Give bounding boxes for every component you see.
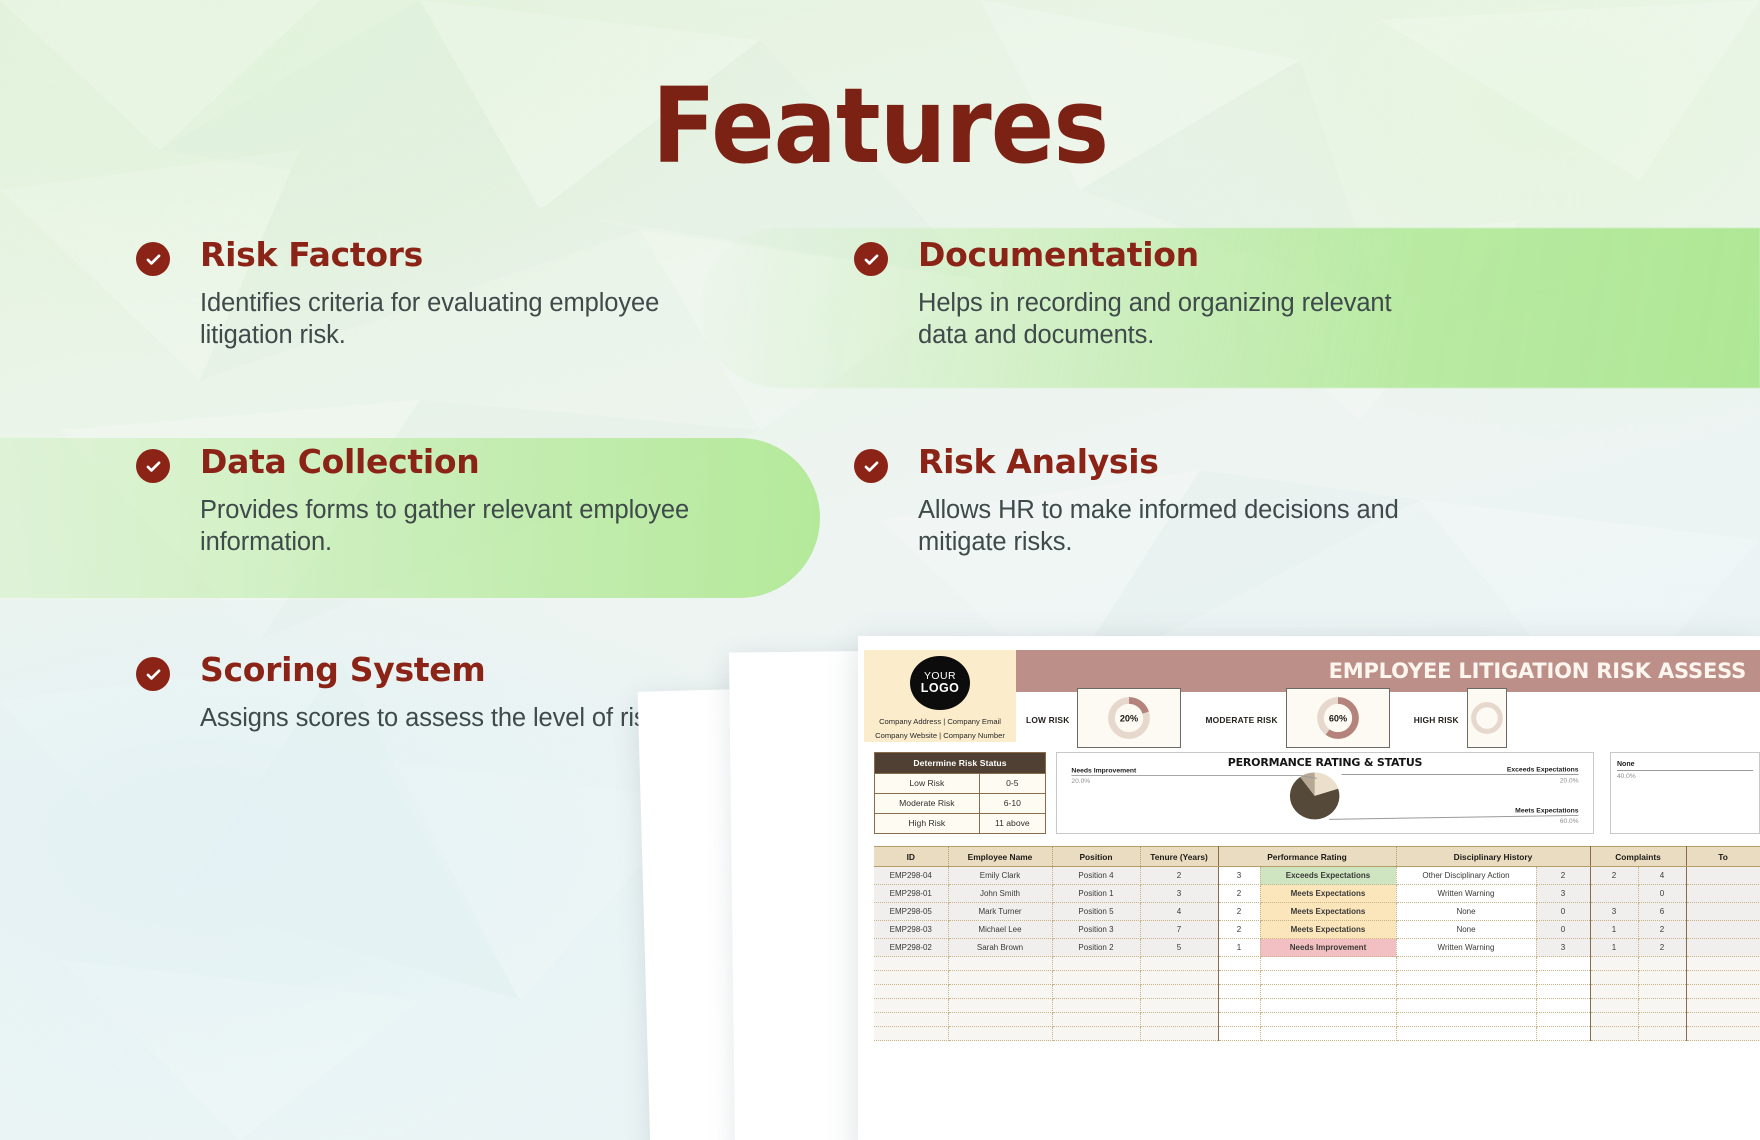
cell-score: 1 <box>1218 939 1260 957</box>
check-circle-icon <box>854 242 888 276</box>
cell-name: Emily Clark <box>948 867 1052 885</box>
cell-tenure: 2 <box>1140 867 1218 885</box>
none-panel: None 40.0% <box>1610 752 1760 834</box>
company-contact-line-2: Company Website | Company Number <box>875 729 1005 742</box>
feature-description: Provides forms to gather relevant employ… <box>200 494 720 558</box>
cell-id: EMP298-03 <box>874 921 948 939</box>
cell-complaint-2: 6 <box>1638 903 1686 921</box>
table-row-empty <box>874 999 1760 1013</box>
page-title: Features <box>88 74 1672 178</box>
risk-status-label: Moderate Risk <box>875 793 980 813</box>
feature-description: Allows HR to make informed decisions and… <box>918 494 1438 558</box>
none-panel-label: None <box>1617 761 1753 771</box>
cell-tenure: 4 <box>1140 903 1218 921</box>
cell-history-num: 2 <box>1536 867 1590 885</box>
cell-history: None <box>1396 903 1536 921</box>
cell-history: Written Warning <box>1396 939 1536 957</box>
cell-tenure: 7 <box>1140 921 1218 939</box>
feature-heading: Data Collection <box>200 445 800 480</box>
gauge-value-low: 20% <box>1120 713 1138 723</box>
table-row-empty <box>874 971 1760 985</box>
gauge-label-high: HIGH RISK <box>1414 715 1459 725</box>
risk-status-label: Low Risk <box>875 773 980 793</box>
cell-to <box>1686 921 1760 939</box>
logo-block: YOUR LOGO Company Address | Company Emai… <box>864 650 1016 742</box>
cell-history: Written Warning <box>1396 885 1536 903</box>
gauge-low-risk: 20% <box>1077 688 1181 748</box>
cell-position: Position 4 <box>1052 867 1140 885</box>
cell-id: EMP298-05 <box>874 903 948 921</box>
feature-cell-risk-factors: Risk Factors Identifies criteria for eva… <box>0 238 800 446</box>
cell-id: EMP298-04 <box>874 867 948 885</box>
cell-position: Position 2 <box>1052 939 1140 957</box>
cell-rating: Meets Expectations <box>1260 903 1396 921</box>
table-row-empty <box>874 1027 1760 1041</box>
cell-history: None <box>1396 921 1536 939</box>
determine-risk-status-table: Determine Risk Status Low Risk0-5 Modera… <box>874 752 1046 834</box>
table-row: EMP298-03 Michael Lee Position 3 7 2 Mee… <box>874 921 1760 939</box>
col-employee-name: Employee Name <box>948 847 1052 867</box>
cell-to <box>1686 939 1760 957</box>
pie-value-exceeds: 20.0% <box>1560 777 1579 784</box>
performance-pie-chart: PERORMANCE RATING & STATUS <box>1056 752 1594 834</box>
cell-complaint-2: 4 <box>1638 867 1686 885</box>
cell-complaint-2: 0 <box>1638 885 1686 903</box>
col-id: ID <box>874 847 948 867</box>
none-panel-value: 40.0% <box>1617 773 1753 780</box>
feature-heading: Documentation <box>918 238 1642 273</box>
col-disciplinary-history: Disciplinary History <box>1396 847 1590 867</box>
employee-risk-table: ID Employee Name Position Tenure (Years)… <box>874 846 1760 1041</box>
logo-line-2: LOGO <box>921 682 959 695</box>
cell-to <box>1686 903 1760 921</box>
gauge-high-risk <box>1467 688 1507 748</box>
cell-rating: Needs Improvement <box>1260 939 1396 957</box>
cell-name: Mark Turner <box>948 903 1052 921</box>
risk-status-range: 11 above <box>979 813 1045 833</box>
cell-position: Position 1 <box>1052 885 1140 903</box>
risk-status-title: Determine Risk Status <box>875 753 1046 774</box>
cell-complaint-1: 1 <box>1590 939 1638 957</box>
logo-mark: YOUR LOGO <box>910 656 970 710</box>
risk-status-range: 0-5 <box>979 773 1045 793</box>
risk-status-range: 6-10 <box>979 793 1045 813</box>
col-to: To <box>1686 847 1760 867</box>
cell-rating: Meets Expectations <box>1260 921 1396 939</box>
feature-heading: Risk Analysis <box>918 445 1642 480</box>
check-circle-icon <box>854 449 888 483</box>
pie-label-needs-improvement: Needs Improvement <box>1071 768 1137 775</box>
gauge-moderate-risk: 60% <box>1286 688 1390 748</box>
table-row: EMP298-04 Emily Clark Position 4 2 3 Exc… <box>874 867 1760 885</box>
cell-score: 2 <box>1218 903 1260 921</box>
cell-history-num: 0 <box>1536 903 1590 921</box>
company-contact-line-1: Company Address | Company Email <box>875 715 1005 728</box>
cell-history-num: 0 <box>1536 921 1590 939</box>
table-row-empty <box>874 985 1760 999</box>
cell-complaint-2: 2 <box>1638 939 1686 957</box>
cell-complaint-1: 3 <box>1590 903 1638 921</box>
document-header-title: EMPLOYEE LITIGATION RISK ASSESS <box>1329 659 1746 683</box>
cell-rating: Exceeds Expectations <box>1260 867 1396 885</box>
cell-complaint-2: 2 <box>1638 921 1686 939</box>
table-row-empty <box>874 1013 1760 1027</box>
pie-value-needs-improvement: 20.0% <box>1071 778 1090 785</box>
cell-history-num: 3 <box>1536 885 1590 903</box>
table-row: EMP298-01 John Smith Position 1 3 2 Meet… <box>874 885 1760 903</box>
table-row: EMP298-02 Sarah Brown Position 2 5 1 Nee… <box>874 939 1760 957</box>
check-circle-icon <box>136 242 170 276</box>
pie-label-exceeds: Exceeds Expectations <box>1507 767 1579 774</box>
cell-to <box>1686 867 1760 885</box>
document-mockup: YOUR LOGO Company Address | Company Emai… <box>636 612 1760 1140</box>
gauge-label-low: LOW RISK <box>1026 715 1069 725</box>
pie-value-meets: 60.0% <box>1560 818 1579 825</box>
cell-complaint-1 <box>1590 885 1638 903</box>
cell-id: EMP298-01 <box>874 885 948 903</box>
gauge-value-moderate: 60% <box>1329 713 1347 723</box>
feature-description: Helps in recording and organizing releva… <box>918 287 1438 351</box>
cell-score: 2 <box>1218 885 1260 903</box>
cell-score: 2 <box>1218 921 1260 939</box>
gauge-label-moderate: MODERATE RISK <box>1205 715 1277 725</box>
feature-description: Identifies criteria for evaluating emplo… <box>200 287 720 351</box>
cell-position: Position 5 <box>1052 903 1140 921</box>
cell-name: Michael Lee <box>948 921 1052 939</box>
feature-cell-documentation: Documentation Helps in recording and org… <box>800 238 1642 446</box>
risk-status-label: High Risk <box>875 813 980 833</box>
cell-id: EMP298-02 <box>874 939 948 957</box>
cell-name: Sarah Brown <box>948 939 1052 957</box>
cell-complaint-1: 2 <box>1590 867 1638 885</box>
feature-heading: Risk Factors <box>200 238 800 273</box>
col-position: Position <box>1052 847 1140 867</box>
check-circle-icon <box>136 657 170 691</box>
cell-tenure: 5 <box>1140 939 1218 957</box>
cell-position: Position 3 <box>1052 921 1140 939</box>
col-tenure: Tenure (Years) <box>1140 847 1218 867</box>
cell-complaint-1: 1 <box>1590 921 1638 939</box>
col-performance-rating: Performance Rating <box>1218 847 1396 867</box>
cell-history-num: 3 <box>1536 939 1590 957</box>
pie-label-meets: Meets Expectations <box>1515 808 1579 815</box>
risk-gauges: LOW RISK 20% MODERATE RISK <box>1016 692 1760 742</box>
cell-history: Other Disciplinary Action <box>1396 867 1536 885</box>
col-complaints: Complaints <box>1590 847 1686 867</box>
spreadsheet-document: YOUR LOGO Company Address | Company Emai… <box>858 636 1760 1140</box>
cell-tenure: 3 <box>1140 885 1218 903</box>
cell-to <box>1686 885 1760 903</box>
cell-name: John Smith <box>948 885 1052 903</box>
table-header-row: ID Employee Name Position Tenure (Years)… <box>874 847 1760 867</box>
cell-rating: Meets Expectations <box>1260 885 1396 903</box>
table-row-empty <box>874 957 1760 971</box>
table-row: EMP298-05 Mark Turner Position 5 4 2 Mee… <box>874 903 1760 921</box>
check-circle-icon <box>136 449 170 483</box>
document-header-band: EMPLOYEE LITIGATION RISK ASSESS <box>1016 650 1760 692</box>
cell-score: 3 <box>1218 867 1260 885</box>
